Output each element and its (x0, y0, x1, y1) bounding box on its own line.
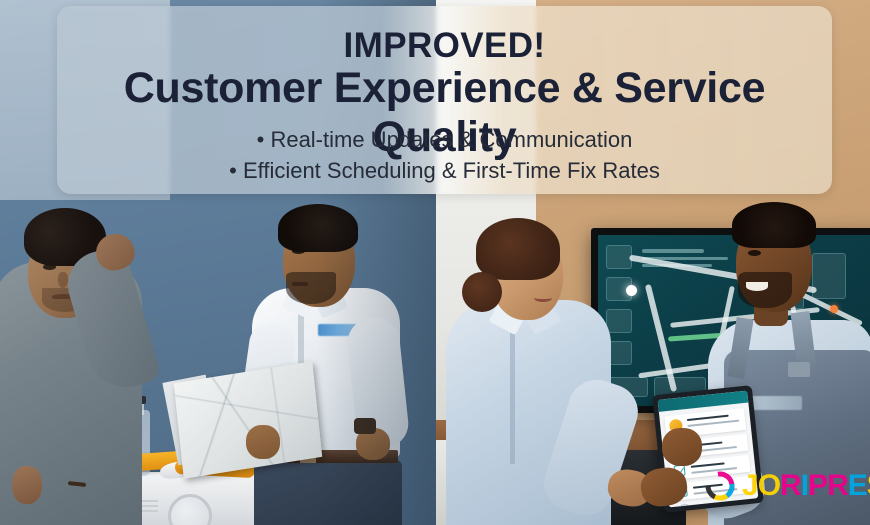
watermark-logo: JORIPRESS (702, 468, 870, 504)
feature-bullet-list: • Real-time Updates & Communication • Ef… (57, 124, 832, 186)
bullet-item-2: • Efficient Scheduling & First-Time Fix … (57, 155, 832, 186)
right-technician-eye (748, 250, 761, 256)
right-technician-smile (746, 282, 768, 291)
joripress-letter: P (808, 471, 827, 501)
joripress-letter: R (827, 471, 848, 501)
hud-card-panel-right-2 (812, 253, 846, 299)
washer-door (168, 494, 212, 525)
joripress-ring-icon (702, 468, 738, 504)
right-technician-strap-buckle (788, 362, 810, 377)
right-customer-smile (534, 294, 552, 302)
joripress-letter: O (758, 471, 780, 501)
joripress-letter: J (742, 471, 758, 501)
customer-nose (58, 272, 68, 288)
hud-card-1 (606, 245, 632, 269)
technician-hand-left (246, 425, 280, 459)
headline-banner: IMPROVED! Customer Experience & Service … (57, 6, 832, 194)
joripress-wordmark: JORIPRESS (742, 471, 870, 501)
right-technician-hand-holding-tablet (662, 428, 702, 466)
right-customer-hair (476, 218, 560, 280)
kicker-text: IMPROVED! (57, 26, 832, 66)
map-stop-marker-4 (830, 305, 838, 313)
hud-title-line (642, 249, 704, 253)
joripress-letter: I (801, 471, 808, 501)
bullet-item-1: • Real-time Updates & Communication (57, 124, 832, 155)
joripress-letter: E (848, 471, 867, 501)
hud-card-3 (606, 309, 632, 333)
poster-canvas: IMPROVED! Customer Experience & Service … (0, 0, 870, 525)
right-technician-beard (738, 272, 792, 308)
joripress-letter: R (780, 471, 801, 501)
right-customer-hair-bun (462, 272, 502, 312)
right-customer-shirt-placket (510, 314, 515, 464)
technician-mouth (292, 282, 308, 286)
tablet-footer-avatar-icon (678, 503, 692, 507)
map-origin-marker (626, 285, 637, 296)
right-technician-hair (732, 202, 816, 248)
customer-lower-hand (12, 466, 42, 504)
